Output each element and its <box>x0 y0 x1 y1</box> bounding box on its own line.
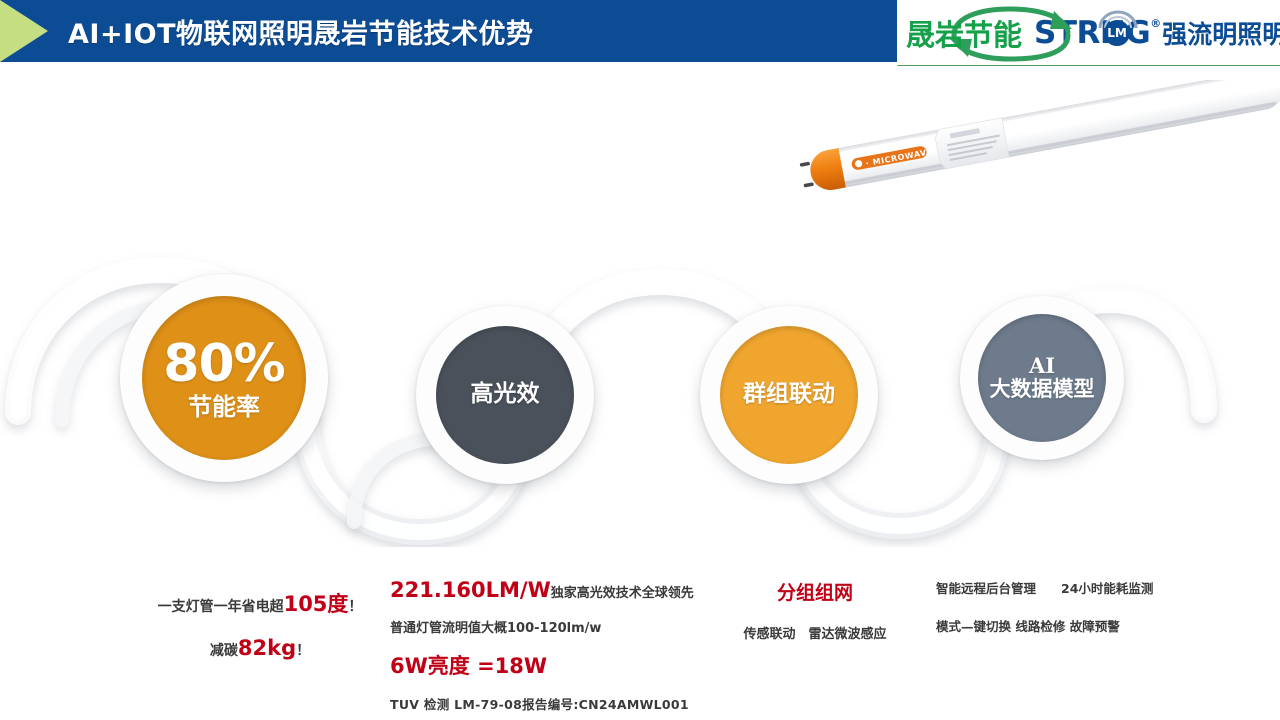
node3-label: 群组联动 <box>743 382 835 408</box>
cap2-line3: 6W亮度 =18W <box>390 650 730 680</box>
node-group-linkage[interactable]: 群组联动 <box>700 306 878 484</box>
chevron-right-icon <box>0 0 48 62</box>
cap1-line2-pre: 减碳 <box>210 643 238 659</box>
cap1-line1-num: 105度 <box>284 592 349 616</box>
cap3-line1: 分组组网 <box>700 578 930 605</box>
logo-lm-badge: LM <box>1104 20 1130 46</box>
cap3-line2: 传感联动 雷达微波感应 <box>700 623 930 642</box>
cap4-line1: 智能远程后台管理 24小时能耗监测 <box>936 578 1266 597</box>
slide-root: AI+IOT物联网照明晟岩节能技术优势 晟岩节能 STRNG LM ® 强流明照… <box>0 0 1280 720</box>
svg-text:· MICROWAVE: · MICROWAVE <box>865 147 933 168</box>
node-disc-1: 80% 节能率 <box>142 296 306 460</box>
caption-column-2: 221.160LM/W独家高光效技术全球领先 普通灯管流明值大概100-120l… <box>390 578 730 713</box>
page-title: AI+IOT物联网照明晟岩节能技术优势 <box>68 12 533 51</box>
node2-label: 高光效 <box>471 382 540 408</box>
registered-mark-icon: ® <box>1150 17 1161 30</box>
cap2-line1-text: 独家高光效技术全球领先 <box>551 586 694 601</box>
node-high-luminous-efficiency[interactable]: 高光效 <box>416 306 594 484</box>
node4-label-bottom: 大数据模型 <box>990 378 1095 402</box>
logo-brand-cn2: 强流明照明 <box>1162 15 1280 51</box>
cap2-line2: 普通灯管流明值大概100-120lm/w <box>390 617 730 636</box>
node-disc-2: 高光效 <box>436 326 574 464</box>
node1-sublabel: 节能率 <box>188 394 260 421</box>
cap1-line2-num: 82kg <box>238 636 296 660</box>
cap2-line4: TUV 检测 LM-79-08报告编号:CN24AMWL001 <box>390 694 730 713</box>
infographic-stage: 80% 节能率 高光效 群组联动 AI 大数据模型 <box>0 232 1280 547</box>
node-disc-4: AI 大数据模型 <box>978 314 1106 442</box>
cap2-line1-num: 221.160LM/W <box>390 578 551 602</box>
cap1-line2: 减碳82kg！ <box>110 636 410 660</box>
node-ai-big-data-model[interactable]: AI 大数据模型 <box>960 296 1124 460</box>
caption-column-1: 一支灯管一年省电超105度！ 减碳82kg！ <box>110 588 410 660</box>
node1-value: 80% <box>163 335 284 393</box>
cap4-line2: 模式—键切换 线路检修 故障预警 <box>936 616 1266 635</box>
cap2-line1: 221.160LM/W独家高光效技术全球领先 <box>390 578 730 602</box>
cap1-line1-post: ！ <box>348 599 362 615</box>
node-energy-saving-rate[interactable]: 80% 节能率 <box>120 274 328 482</box>
caption-column-4: 智能远程后台管理 24小时能耗监测 模式—键切换 线路检修 故障预警 <box>936 578 1266 635</box>
brand-logo: 晟岩节能 STRNG LM ® 强流明照明 <box>897 0 1280 66</box>
caption-column-3: 分组组网 传感联动 雷达微波感应 <box>700 578 930 642</box>
node-disc-3: 群组联动 <box>720 326 858 464</box>
logo-brand-cn: 晟岩节能 <box>906 12 1022 54</box>
cap1-line2-post: ！ <box>296 643 310 659</box>
node4-label-top: AI <box>1029 354 1055 378</box>
cap1-line1: 一支灯管一年省电超105度！ <box>110 588 410 618</box>
logo-strong-group: STRNG LM ® <box>1034 15 1161 51</box>
cap1-line1-pre: 一支灯管一年省电超 <box>158 599 284 615</box>
led-tube-image: · MICROWAVE <box>760 80 1280 210</box>
